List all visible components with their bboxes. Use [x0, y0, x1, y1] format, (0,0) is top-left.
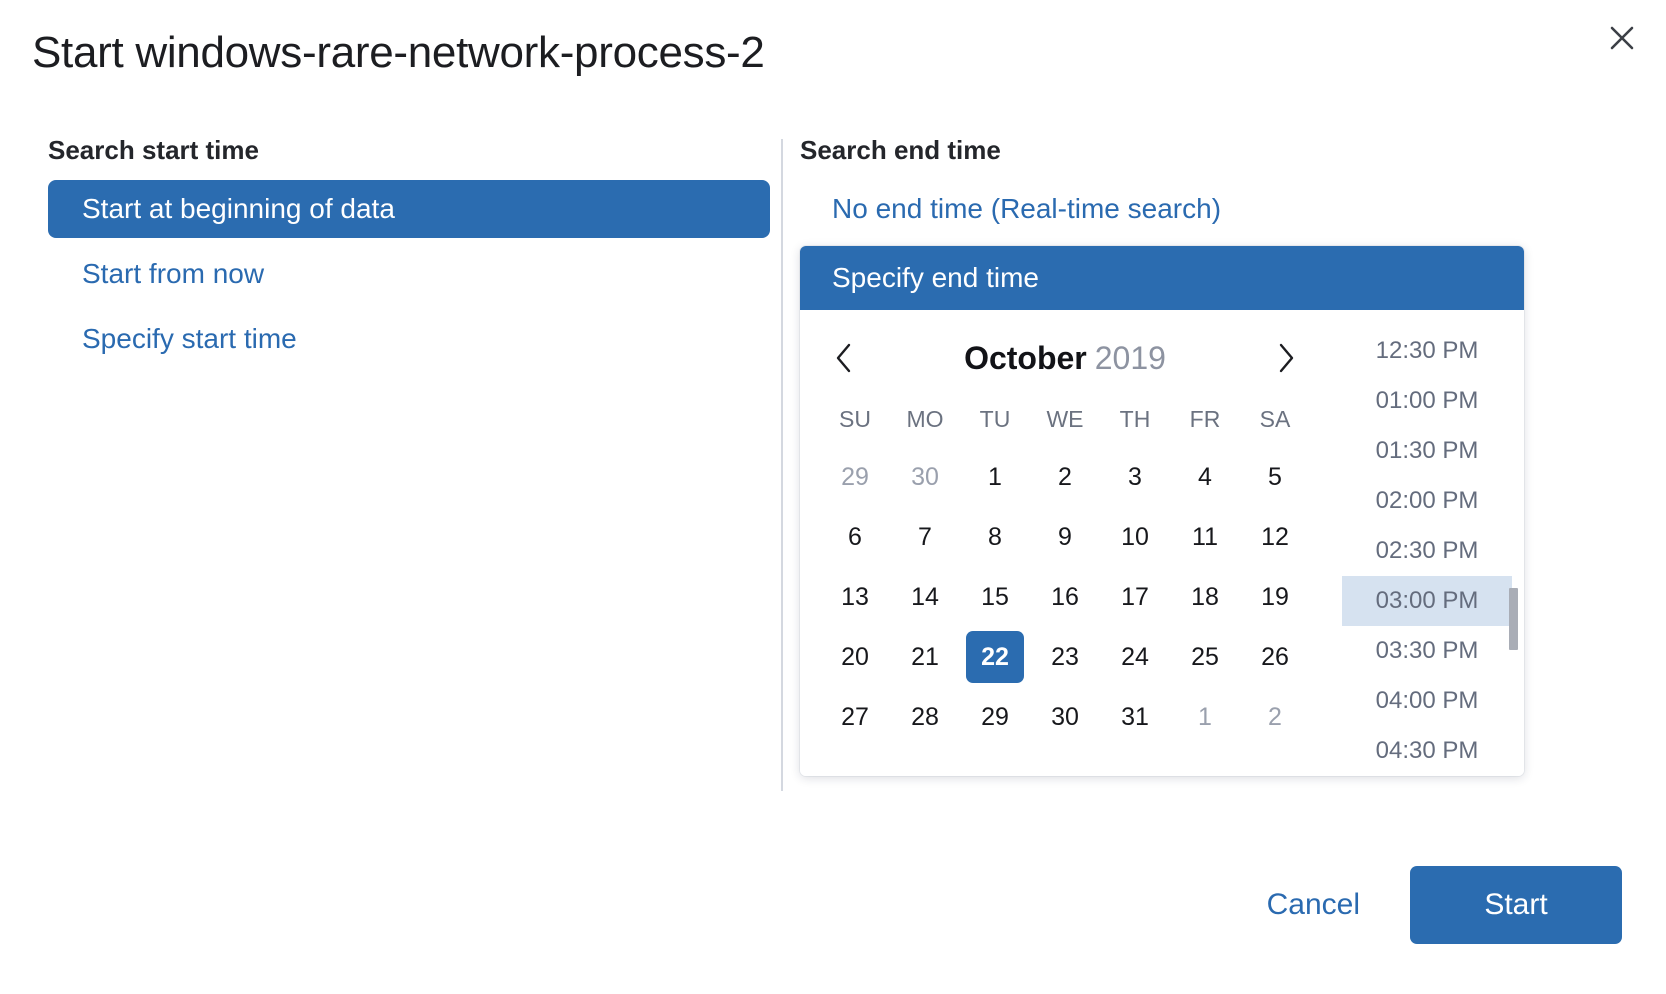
search-start-time-label: Search start time	[48, 135, 770, 166]
calendar-day-18[interactable]: 18	[1176, 571, 1234, 623]
calendar-day-cell: 15	[960, 567, 1030, 627]
start-option-from-now[interactable]: Start from now	[48, 245, 770, 303]
calendar-day-1[interactable]: 1	[966, 451, 1024, 503]
calendar-day-cell: 8	[960, 507, 1030, 567]
calendar-day-10[interactable]: 10	[1106, 511, 1164, 563]
calendar-day-28[interactable]: 28	[896, 691, 954, 743]
time-option-04-30-pm[interactable]: 04:30 PM	[1342, 726, 1512, 776]
calendar-day-31[interactable]: 31	[1106, 691, 1164, 743]
calendar-day-cell: 27	[820, 687, 890, 747]
calendar-day-30[interactable]: 30	[1036, 691, 1094, 743]
calendar-day-14[interactable]: 14	[896, 571, 954, 623]
calendar-title: October2019	[868, 340, 1262, 377]
calendar-day-cell: 16	[1030, 567, 1100, 627]
calendar-day-20[interactable]: 20	[826, 631, 884, 683]
calendar-day-6[interactable]: 6	[826, 511, 884, 563]
calendar-day-2[interactable]: 2	[1036, 451, 1094, 503]
time-list-scrollbar[interactable]	[1509, 326, 1518, 772]
picker-body: October2019 SUMOTUWETHFRSA29301234567891…	[800, 310, 1524, 776]
start-option-specify-start-time[interactable]: Specify start time	[48, 310, 770, 368]
calendar-day-25[interactable]: 25	[1176, 631, 1234, 683]
calendar-day-cell: 2	[1240, 687, 1310, 747]
calendar-weekday: TH	[1100, 390, 1170, 447]
calendar-day-cell: 24	[1100, 627, 1170, 687]
calendar-day-cell: 3	[1100, 447, 1170, 507]
time-option-02-00-pm[interactable]: 02:00 PM	[1342, 476, 1512, 526]
calendar-day-cell: 26	[1240, 627, 1310, 687]
calendar-day-cell: 29	[960, 687, 1030, 747]
calendar-day-cell: 22	[960, 627, 1030, 687]
calendar-day-7[interactable]: 7	[896, 511, 954, 563]
calendar-day-cell: 11	[1170, 507, 1240, 567]
calendar-day-23[interactable]: 23	[1036, 631, 1094, 683]
cancel-button[interactable]: Cancel	[1241, 872, 1386, 938]
calendar-day-cell: 1	[1170, 687, 1240, 747]
end-option-specify-end-time[interactable]: Specify end time	[800, 246, 1524, 310]
calendar-day-cell: 9	[1030, 507, 1100, 567]
time-option-01-00-pm[interactable]: 01:00 PM	[1342, 376, 1512, 426]
calendar-weekday: WE	[1030, 390, 1100, 447]
chevron-left-icon[interactable]	[820, 334, 868, 382]
calendar-day-21[interactable]: 21	[896, 631, 954, 683]
calendar-day-15[interactable]: 15	[966, 571, 1024, 623]
calendar-day-19[interactable]: 19	[1246, 571, 1304, 623]
calendar-weekday: MO	[890, 390, 960, 447]
start-option-beginning-of-data[interactable]: Start at beginning of data	[48, 180, 770, 238]
calendar-day-12[interactable]: 12	[1246, 511, 1304, 563]
calendar-day-11[interactable]: 11	[1176, 511, 1234, 563]
calendar-day-30[interactable]: 30	[896, 451, 954, 503]
chevron-right-icon[interactable]	[1262, 334, 1310, 382]
calendar-day-29[interactable]: 29	[966, 691, 1024, 743]
calendar-weekday: SU	[820, 390, 890, 447]
time-option-03-30-pm[interactable]: 03:30 PM	[1342, 626, 1512, 676]
search-end-time-panel: Search end time No end time (Real-time s…	[800, 135, 1540, 776]
dialog-columns: Search start time Start at beginning of …	[0, 135, 1666, 800]
time-list[interactable]: 12:30 PM01:00 PM01:30 PM02:00 PM02:30 PM…	[1320, 310, 1524, 776]
dialog-footer: Cancel Start	[0, 816, 1666, 994]
calendar-day-cell: 31	[1100, 687, 1170, 747]
calendar-day-3[interactable]: 3	[1106, 451, 1164, 503]
time-option-04-00-pm[interactable]: 04:00 PM	[1342, 676, 1512, 726]
calendar-day-22-selected[interactable]: 22	[966, 631, 1024, 683]
calendar-day-24[interactable]: 24	[1106, 631, 1164, 683]
calendar-day-cell: 14	[890, 567, 960, 627]
calendar-day-cell: 13	[820, 567, 890, 627]
calendar-day-9[interactable]: 9	[1036, 511, 1094, 563]
spacer	[48, 238, 770, 245]
calendar-weekday: SA	[1240, 390, 1310, 447]
calendar-day-cell: 21	[890, 627, 960, 687]
calendar-day-29[interactable]: 29	[826, 451, 884, 503]
calendar: October2019 SUMOTUWETHFRSA29301234567891…	[800, 310, 1320, 776]
time-option-01-30-pm[interactable]: 01:30 PM	[1342, 426, 1512, 476]
time-option-12-30-pm[interactable]: 12:30 PM	[1342, 326, 1512, 376]
calendar-day-4[interactable]: 4	[1176, 451, 1234, 503]
calendar-header: October2019	[820, 326, 1310, 390]
calendar-day-16[interactable]: 16	[1036, 571, 1094, 623]
calendar-day-cell: 12	[1240, 507, 1310, 567]
time-option-03-00-pm[interactable]: 03:00 PM	[1342, 576, 1512, 626]
calendar-day-cell: 20	[820, 627, 890, 687]
dialog-title: Start windows-rare-network-process-2	[32, 28, 765, 78]
column-divider	[781, 139, 783, 791]
calendar-day-cell: 23	[1030, 627, 1100, 687]
calendar-day-cell: 6	[820, 507, 890, 567]
calendar-day-2[interactable]: 2	[1246, 691, 1304, 743]
calendar-day-cell: 7	[890, 507, 960, 567]
calendar-day-cell: 4	[1170, 447, 1240, 507]
calendar-day-8[interactable]: 8	[966, 511, 1024, 563]
calendar-day-cell: 17	[1100, 567, 1170, 627]
time-option-02-30-pm[interactable]: 02:30 PM	[1342, 526, 1512, 576]
calendar-day-cell: 2	[1030, 447, 1100, 507]
end-time-picker: Specify end time October2019	[800, 246, 1524, 776]
calendar-day-cell: 29	[820, 447, 890, 507]
calendar-day-cell: 18	[1170, 567, 1240, 627]
search-start-time-panel: Search start time Start at beginning of …	[48, 135, 770, 368]
calendar-day-13[interactable]: 13	[826, 571, 884, 623]
calendar-day-cell: 30	[890, 447, 960, 507]
calendar-day-cell: 5	[1240, 447, 1310, 507]
calendar-day-5[interactable]: 5	[1246, 451, 1304, 503]
end-option-no-end-time[interactable]: No end time (Real-time search)	[800, 180, 1540, 238]
calendar-day-1[interactable]: 1	[1176, 691, 1234, 743]
calendar-grid: SUMOTUWETHFRSA29301234567891011121314151…	[820, 390, 1310, 747]
search-end-time-label: Search end time	[800, 135, 1540, 166]
calendar-day-cell: 19	[1240, 567, 1310, 627]
calendar-year: 2019	[1095, 340, 1166, 376]
start-button[interactable]: Start	[1410, 866, 1622, 944]
close-icon[interactable]	[1600, 16, 1644, 60]
spacer	[48, 303, 770, 310]
calendar-day-cell: 10	[1100, 507, 1170, 567]
calendar-day-27[interactable]: 27	[826, 691, 884, 743]
calendar-weekday: FR	[1170, 390, 1240, 447]
calendar-day-cell: 25	[1170, 627, 1240, 687]
calendar-month: October	[964, 340, 1087, 376]
calendar-day-17[interactable]: 17	[1106, 571, 1164, 623]
calendar-day-26[interactable]: 26	[1246, 631, 1304, 683]
time-list-scrollbar-thumb[interactable]	[1509, 588, 1518, 650]
calendar-day-cell: 1	[960, 447, 1030, 507]
calendar-day-cell: 30	[1030, 687, 1100, 747]
calendar-weekday: TU	[960, 390, 1030, 447]
time-range-dialog: Start windows-rare-network-process-2 Sea…	[0, 0, 1666, 994]
calendar-day-cell: 28	[890, 687, 960, 747]
